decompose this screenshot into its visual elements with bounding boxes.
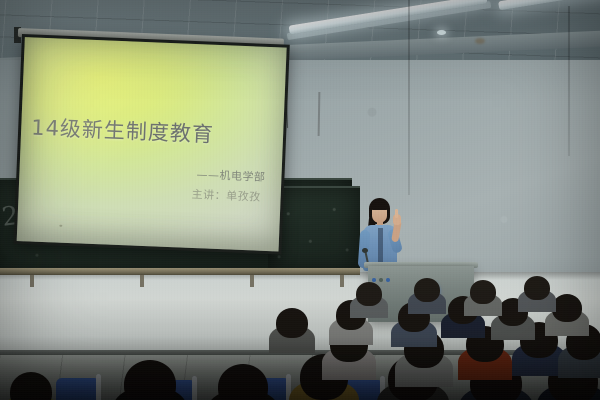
presenter-fringe	[371, 202, 388, 210]
audience-member-head	[524, 276, 550, 300]
wall-seam	[408, 0, 410, 195]
audience-member-head	[10, 372, 52, 400]
audience	[0, 268, 600, 400]
audience-member-head	[276, 308, 308, 338]
projection-screen-frame: 14级新生制度教育 ——机电学部 主讲：单孜孜	[14, 34, 290, 255]
ceiling-spot-light	[437, 30, 446, 35]
screen-speck	[59, 225, 62, 227]
podium-microphone	[362, 248, 368, 253]
ceiling-stain	[475, 38, 485, 44]
audience-member-head	[124, 360, 176, 400]
wall-seam	[568, 6, 570, 156]
chair-armrest	[96, 374, 101, 400]
audience-member-head	[552, 294, 582, 322]
presenter-raised-finger	[395, 209, 398, 218]
audience-member-head	[218, 364, 268, 400]
chair-armrest	[192, 376, 197, 400]
auditorium-chair	[56, 378, 100, 400]
audience-member-head	[414, 278, 440, 302]
slide-title: 14级新生制度教育	[31, 117, 282, 148]
projection-screen: 14级新生制度教育 ——机电学部 主讲：单孜孜	[17, 37, 287, 251]
slide-subtitle-speaker: 主讲：单孜孜	[191, 186, 261, 205]
audience-member-head	[470, 280, 496, 304]
lecture-hall-photo: 2 14级新生制度教育 ——机电学部 主讲：单孜孜	[0, 0, 600, 400]
slide-subtitle-organization: ——机电学部	[196, 166, 266, 185]
audience-member-head	[356, 282, 382, 306]
